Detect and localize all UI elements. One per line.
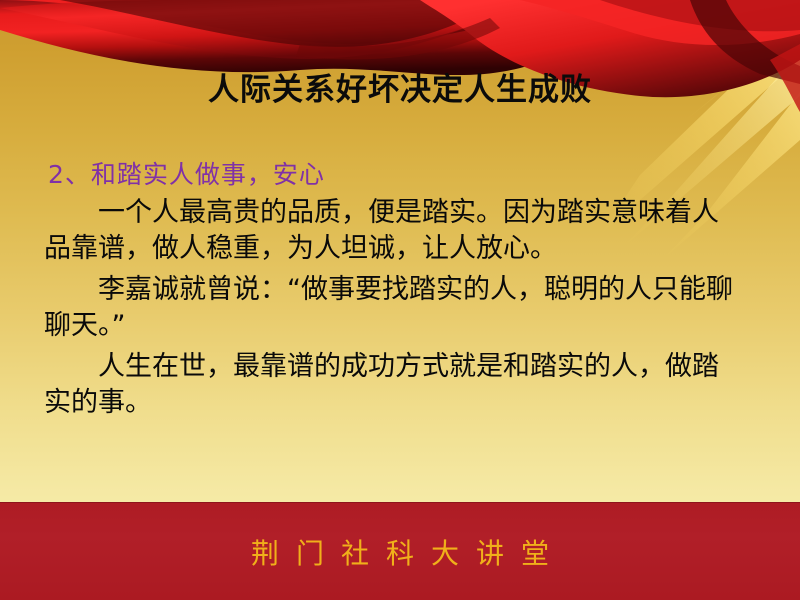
section-subheading: 2、和踏实人做事，安心 (48, 158, 744, 191)
body-paragraph-3: 人生在世，最靠谱的成功方式就是和踏实的人，做踏实的事。 (44, 349, 744, 421)
body-paragraph-2: 李嘉诚就曾说：“做事要找踏实的人，聪明的人只能聊聊天。” (44, 272, 744, 344)
presentation-slide: 人际关系好坏决定人生成败 2、和踏实人做事，安心 一个人最高贵的品质，便是踏实。… (0, 0, 800, 600)
footer-title: 荆门社科大讲堂 (0, 532, 800, 572)
page-title: 人际关系好坏决定人生成败 (0, 72, 800, 109)
body-paragraph-1: 一个人最高贵的品质，便是踏实。因为踏实意味着人品靠谱，做人稳重，为人坦诚，让人放… (44, 195, 744, 267)
footer-band: 荆门社科大讲堂 (0, 502, 800, 600)
slide-body: 2、和踏实人做事，安心 一个人最高贵的品质，便是踏实。因为踏实意味着人品靠谱，做… (44, 158, 744, 420)
